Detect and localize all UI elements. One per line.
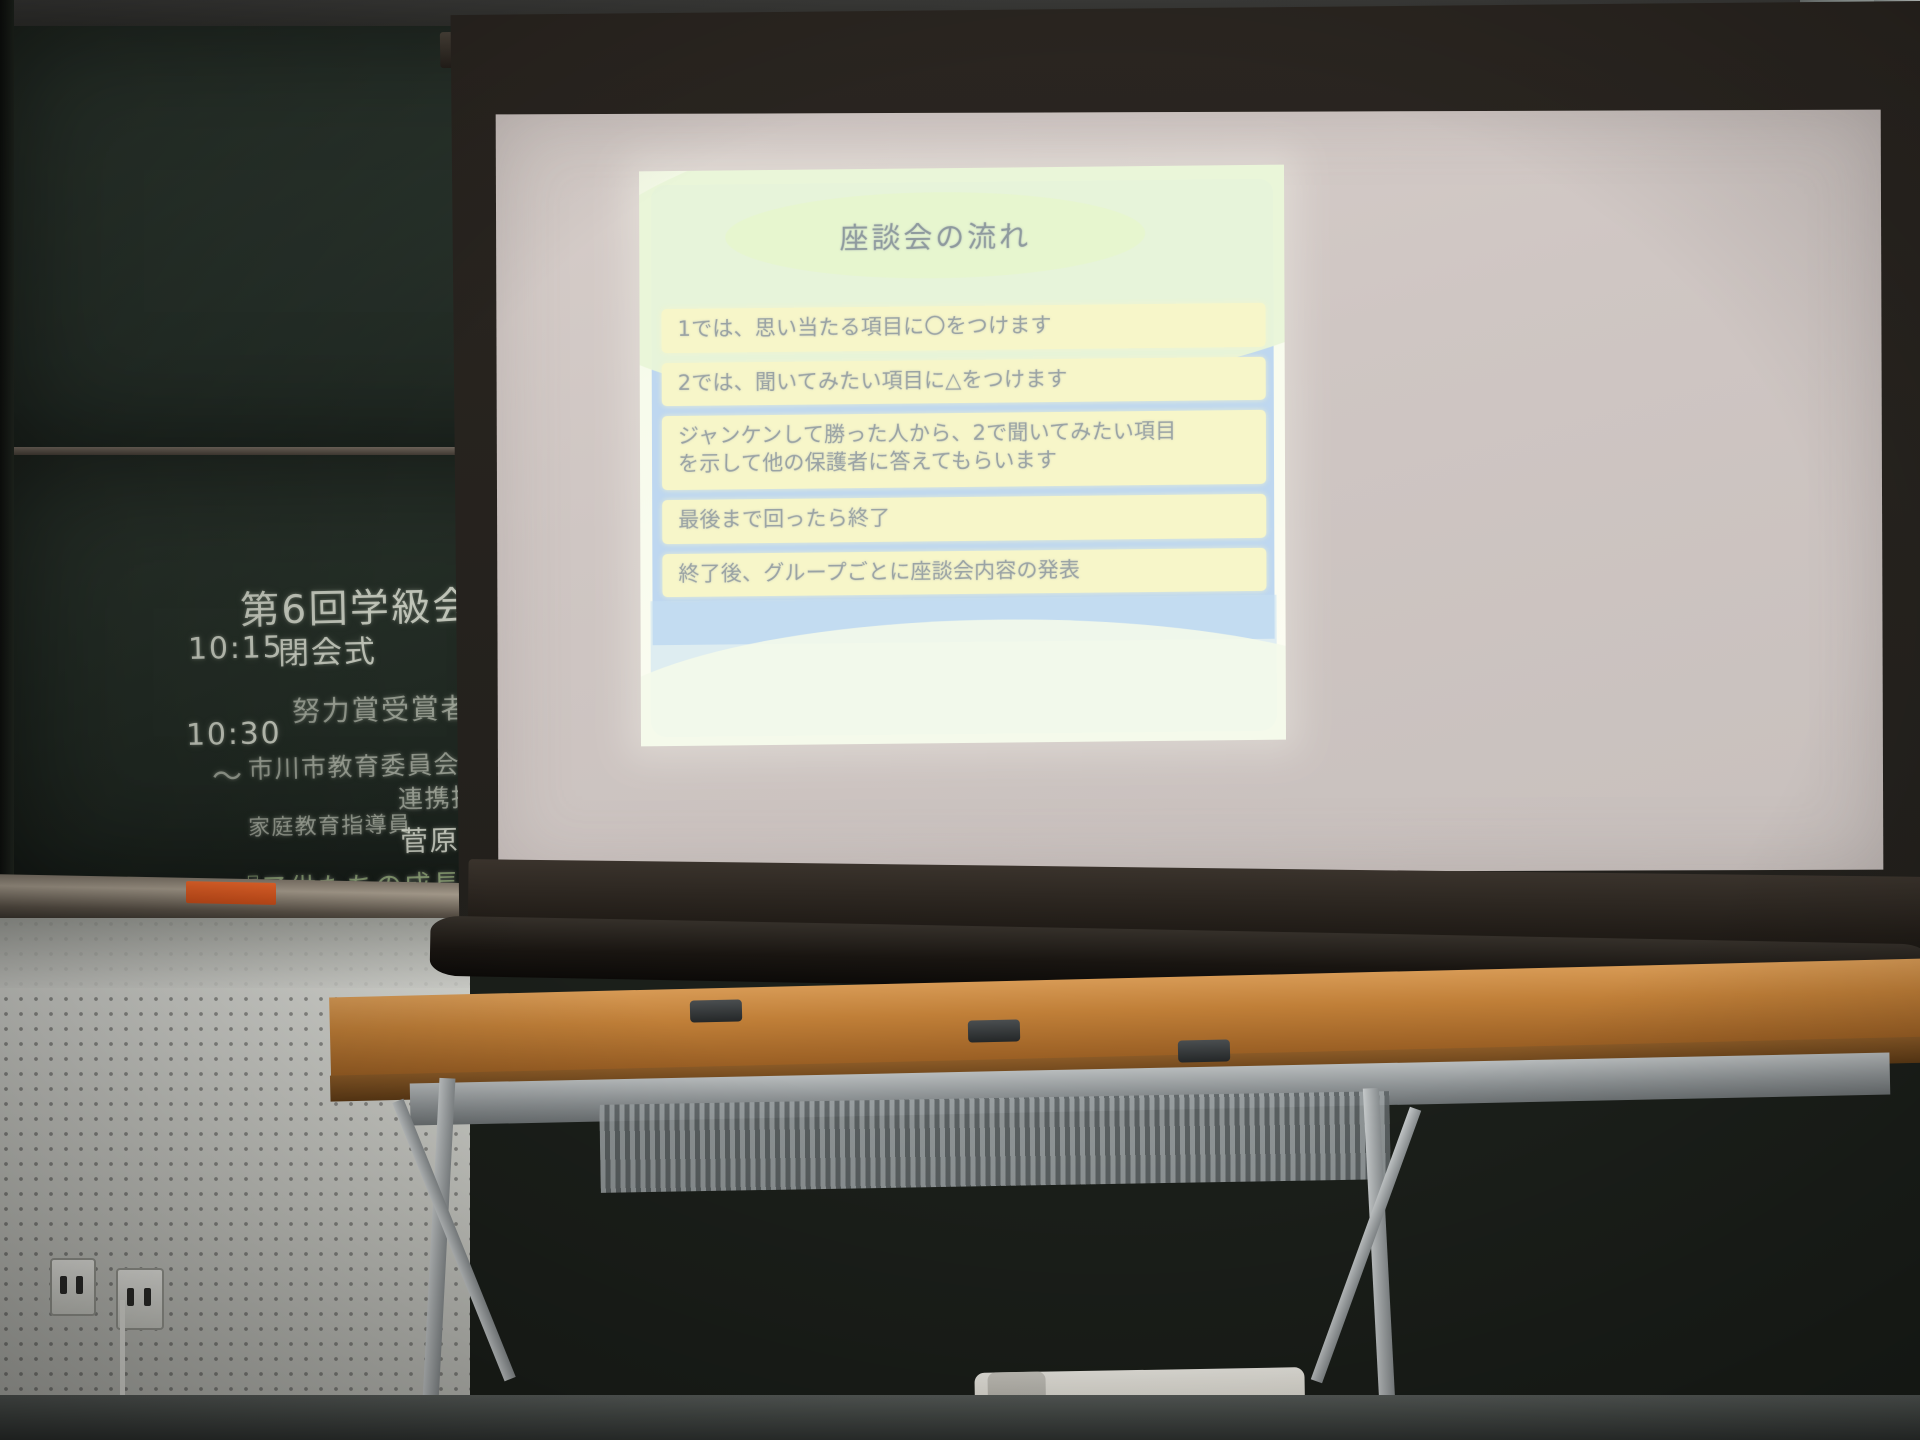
- slide-bullet-step-2: 2では、聞いてみたい項目に△をつけます: [662, 357, 1266, 407]
- chalk-brace: 〜: [212, 751, 245, 796]
- chalk-box[interactable]: [186, 881, 276, 905]
- slide-bullet-step-3-line-2: を示して他の保護者に答えてもらいます: [678, 445, 1254, 479]
- slide-bullet-step-3: ジャンケンして勝った人から、2で聞いてみたい項目 を示して他の保護者に答えてもら…: [662, 410, 1266, 490]
- screen-clamp-mid: [968, 1019, 1021, 1042]
- chalk-line-instructor: 家庭教育指導員: [248, 807, 412, 842]
- slide-bullet-step-4: 最後まで回ったら終了: [662, 494, 1266, 544]
- slide-title: 座談会の流れ: [725, 190, 1145, 280]
- pegboard-wall-shadow: [0, 918, 470, 988]
- screen-clamp-left: [690, 999, 743, 1022]
- table-leg-right: [1363, 1088, 1397, 1440]
- chalk-time-1015: 10:15: [188, 630, 284, 667]
- projected-slide: 座談会の流れ 1では、思い当たる項目に〇をつけます 2では、聞いてみたい項目に△…: [639, 165, 1286, 747]
- chalk-time-1030: 10:30: [186, 716, 282, 753]
- slide-bullet-step-1: 1では、思い当たる項目に〇をつけます: [661, 303, 1265, 353]
- slide-bullet-step-5: 終了後、グループごとに座談会内容の発表: [662, 547, 1266, 597]
- power-outlet-upper[interactable]: [50, 1258, 96, 1316]
- screen-clamp-right: [1178, 1039, 1231, 1062]
- slide-bullet-list: 1では、思い当たる項目に〇をつけます 2では、聞いてみたい項目に△をつけます ジ…: [661, 303, 1266, 598]
- floor: [0, 1395, 1920, 1440]
- classroom-scene: 第6回学級会 10:15 閉会式 努力賞受賞者 表彰 10:30 〜 市川市教育…: [0, 0, 1920, 1440]
- table-under-shelf: [599, 1091, 1390, 1193]
- chalk-line-closing-ceremony: 閉会式: [278, 626, 378, 673]
